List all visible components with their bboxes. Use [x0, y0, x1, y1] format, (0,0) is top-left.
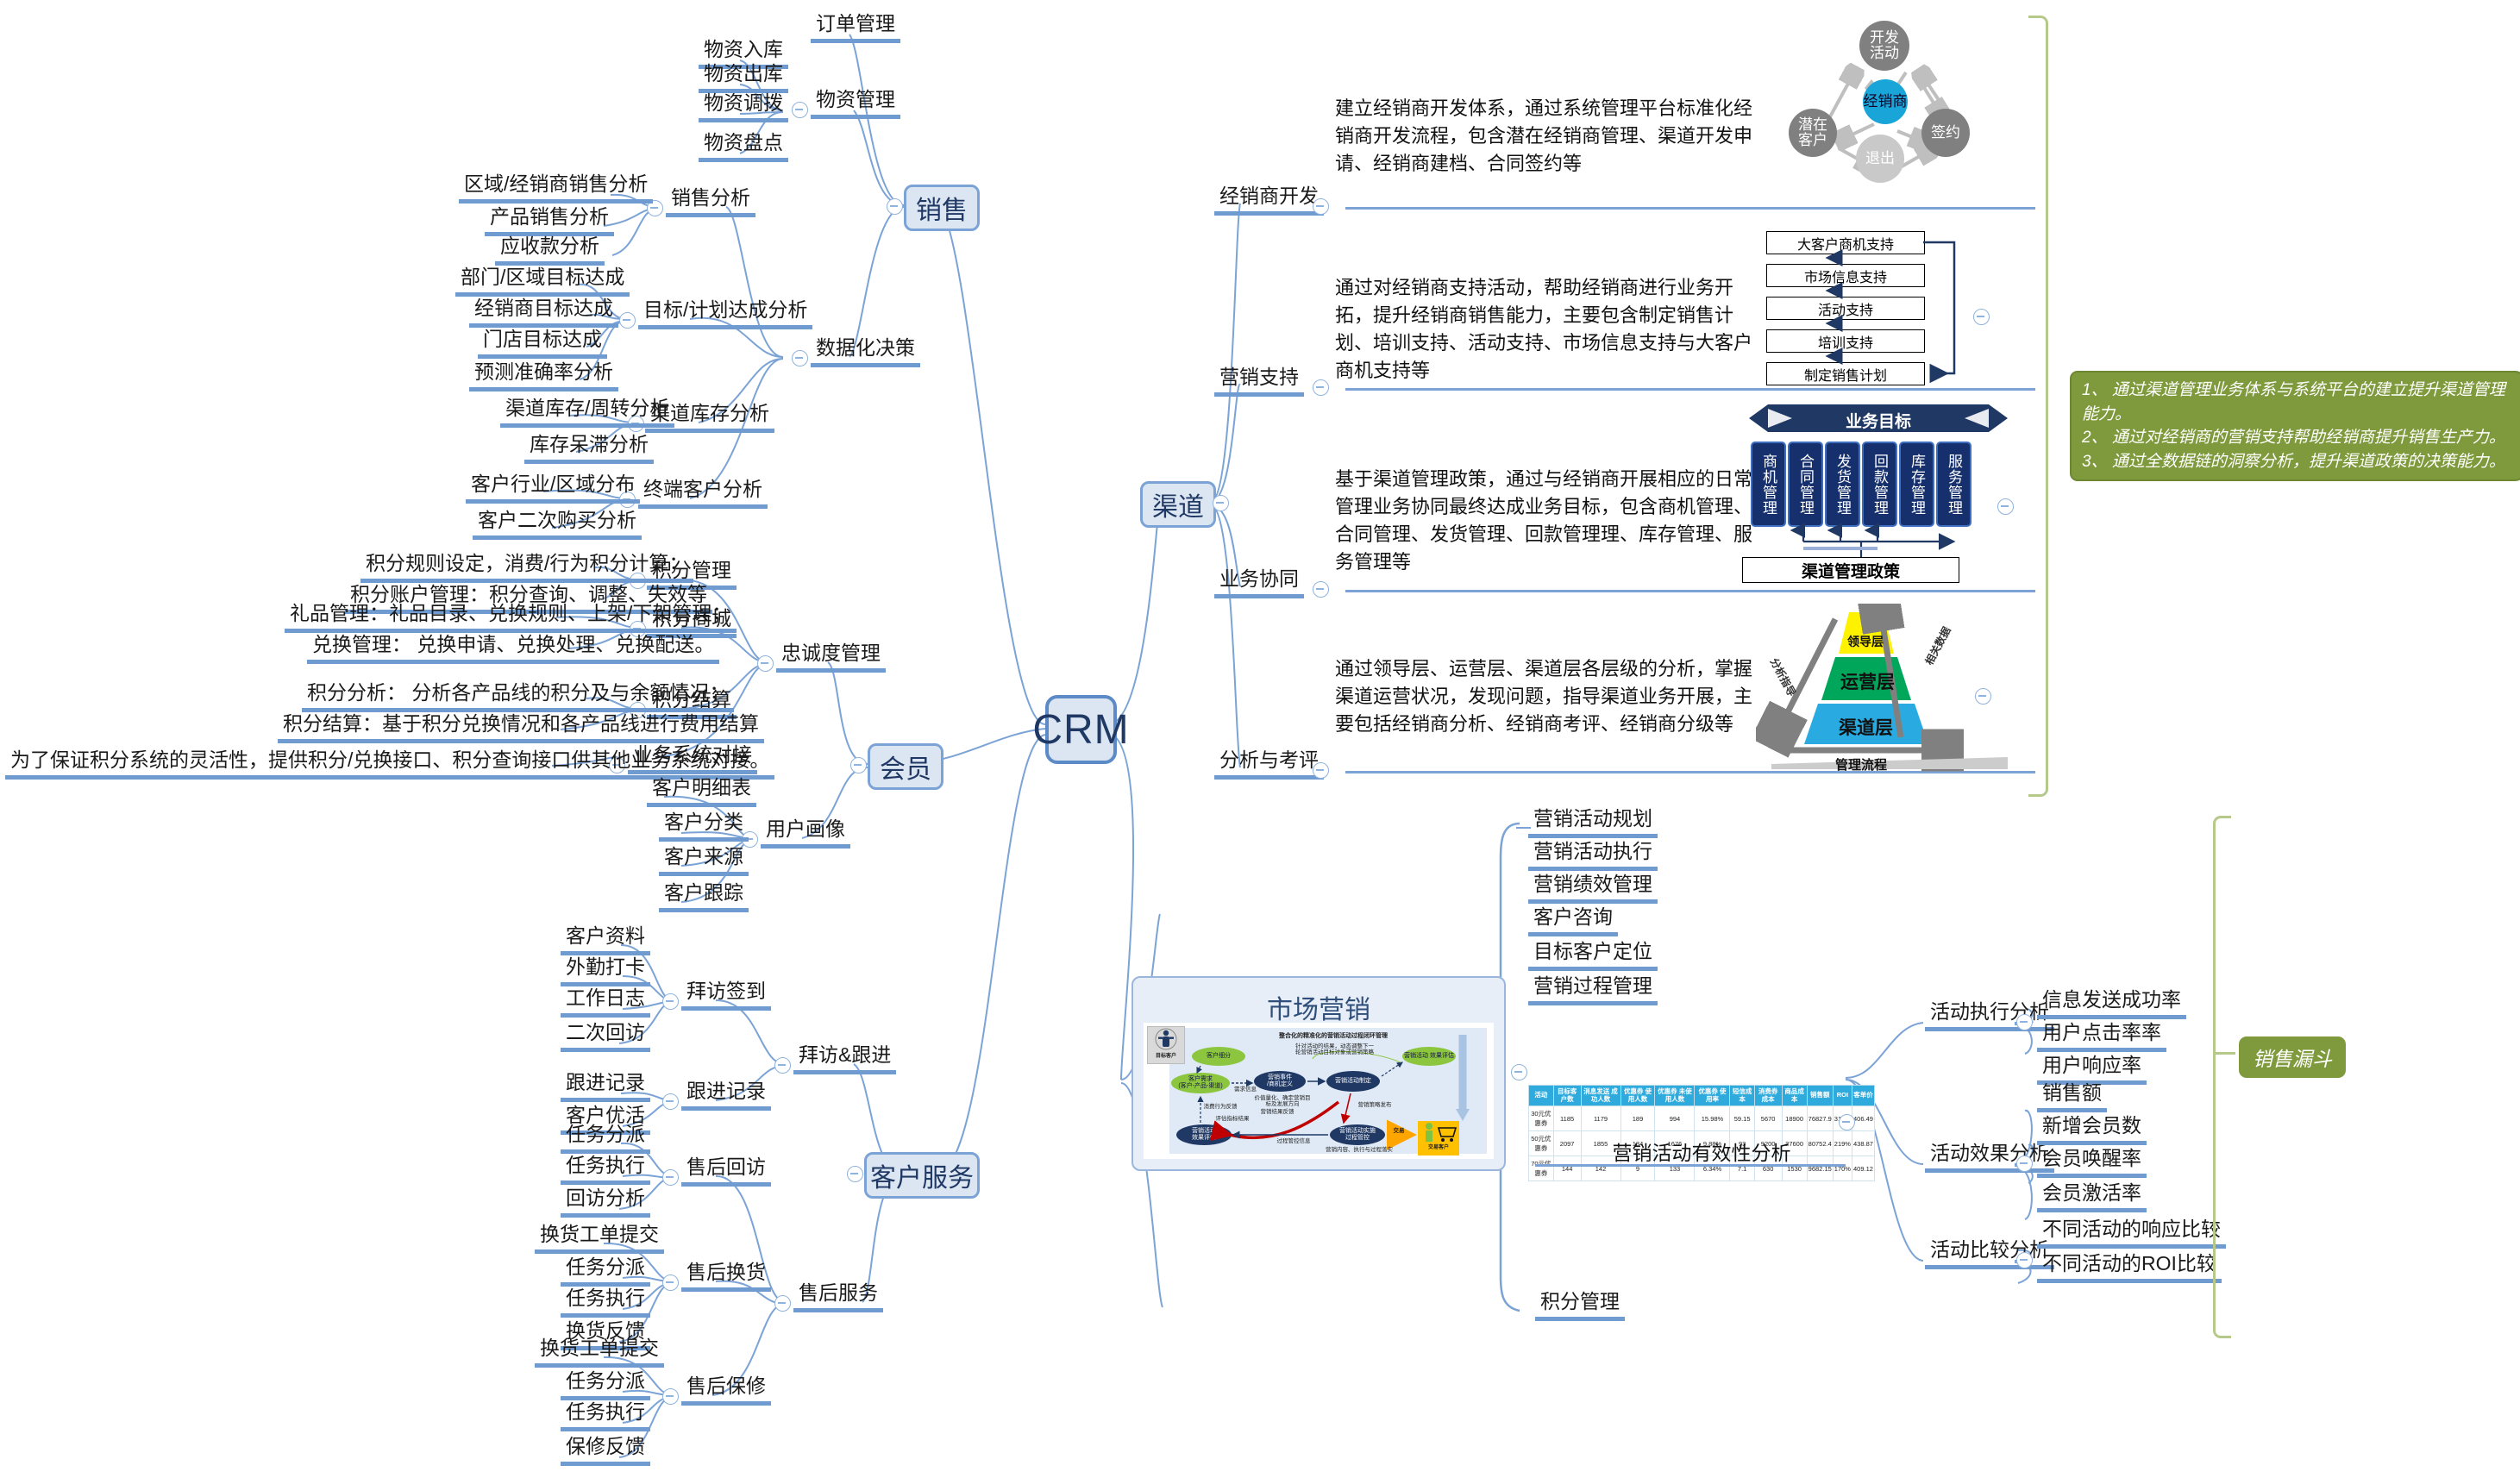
- circle-dealer-center-label: 经销商: [1864, 94, 1908, 110]
- flow-label-eval-metrics: 评估指标结果: [1207, 1116, 1257, 1122]
- leaf-customer-info[interactable]: 客户资料: [561, 924, 650, 955]
- node-aftersales-exchange[interactable]: 售后换货: [681, 1261, 771, 1292]
- circle-contract-label: 签约: [1931, 125, 1960, 141]
- leaf-material-count[interactable]: 物资盘点: [699, 131, 788, 162]
- leaf-campaign-plan[interactable]: 营销活动规划: [1528, 807, 1658, 838]
- toggle-activity-compare-analysis[interactable]: [2016, 1252, 2033, 1268]
- node-data-decision[interactable]: 数据化决策: [811, 336, 920, 367]
- funnel-brace-stub: [2213, 1052, 2235, 1055]
- leaf-revenue[interactable]: 销售额: [2037, 1081, 2107, 1112]
- marketing-card-inner: 目标客户 整合化的精准化的营销活动过程闭环管理 客户细分 客户需求 (客户-产品…: [1144, 1023, 1494, 1159]
- leaf-points-flexibility[interactable]: 为了保证积分系统的灵活性，提供积分/兑换接口、积分查询接口供其他业务系统对接。: [5, 748, 774, 780]
- flow-label-process-ctrl: 过程管控信息: [1266, 1138, 1321, 1144]
- leaf-member-wakeup-rate[interactable]: 会员唤醒率: [2037, 1147, 2147, 1178]
- toggle-material-mgmt[interactable]: [792, 102, 808, 118]
- toggle-target-plan[interactable]: [619, 312, 636, 329]
- th-goods-cost: 商品成本: [1782, 1086, 1807, 1106]
- toggle-business-collab[interactable]: [1313, 581, 1329, 598]
- text-analysis-evaluation: 通过领导层、运营层、渠道层各层级的分析，掌握渠道运营状况，发现问题，指导渠道业务…: [1335, 655, 1758, 738]
- pyramid-level-leadership: 领导层: [1847, 633, 1884, 650]
- illustration-dealer-cycle: 开发活动 经销商 潜在客户 签约 退出: [1777, 12, 2035, 202]
- toggle-aftersales-revisit[interactable]: [662, 1169, 679, 1186]
- leaf-task-assign-3[interactable]: 任务分派: [561, 1369, 650, 1400]
- channel-rule-3: [1345, 590, 2035, 592]
- toggle-data-decision[interactable]: [792, 350, 808, 366]
- leaf-exchange-ticket-2[interactable]: 换货工单提交: [535, 1337, 664, 1368]
- leaf-customer-consult[interactable]: 客户咨询: [1528, 905, 1618, 936]
- callout-line-1: 1、 通过渠道管理业务体系与系统平台的建立提升渠道管理能力。: [2082, 379, 2511, 426]
- leaf-response-compare[interactable]: 不同活动的响应比较: [2037, 1218, 2226, 1249]
- flow-label-dynamic-adjust: 针对活动的结果，动态调整下一轮营销活动目标对象或营销策略: [1295, 1043, 1375, 1056]
- pyramid-level-channel: 渠道层: [1839, 714, 1893, 740]
- leaf-roi-compare[interactable]: 不同活动的ROI比较: [2037, 1252, 2222, 1283]
- flow-label-behavior-feedback: 消费行为反馈: [1200, 1104, 1240, 1110]
- node-aftersales-revisit[interactable]: 售后回访: [681, 1155, 771, 1187]
- pillar-delivery: 发货管理: [1825, 442, 1860, 527]
- leaf-warranty-feedback[interactable]: 保修反馈: [561, 1435, 650, 1466]
- leaf-points-rule[interactable]: 积分规则设定，消费/行为积分计算；: [360, 552, 693, 583]
- th-used: 优惠券 使用人数: [1620, 1086, 1655, 1106]
- leaf-customer-source[interactable]: 客户来源: [659, 845, 749, 876]
- toggle-loyalty-mgmt[interactable]: [757, 655, 774, 672]
- marketing-card-title: 市场营销: [1133, 988, 1504, 1026]
- branch-label-service: 客户服务: [870, 1156, 974, 1194]
- leaf-dealer-target[interactable]: 经销商目标达成: [469, 297, 618, 328]
- branch-node-sales[interactable]: 销售: [904, 185, 980, 231]
- node-aftersales-warranty[interactable]: 售后保修: [681, 1375, 771, 1406]
- leaf-material-out[interactable]: 物资出库: [699, 62, 788, 93]
- node-activity-effect-analysis[interactable]: 活动效果分析: [1925, 1142, 2054, 1173]
- toggle-dealer-development[interactable]: [1313, 198, 1329, 215]
- pillar-inventory: 库存管理: [1899, 442, 1934, 527]
- leaf-customer-repeat[interactable]: 客户二次购买分析: [473, 509, 642, 540]
- toggle-marketing-card[interactable]: [1511, 1064, 1527, 1080]
- flow-label-strategy-publish: 营销策略发布: [1354, 1102, 1395, 1108]
- leaf-product-sales[interactable]: 产品销售分析: [485, 205, 614, 236]
- circle-exit-label: 退出: [1865, 151, 1895, 166]
- leaf-task-exec-3[interactable]: 任务执行: [561, 1400, 650, 1431]
- flow-label-value-quant: 价值量化、确定营销目标及发展方向: [1252, 1095, 1313, 1108]
- flow-label-demand-info: 需求信息: [1230, 1087, 1261, 1093]
- pillar-contract: 合同管理: [1788, 442, 1823, 527]
- node-sales-analysis[interactable]: 销售分析: [666, 186, 755, 217]
- node-analysis-evaluation[interactable]: 分析与考评: [1214, 748, 1324, 780]
- node-marketing-support[interactable]: 营销支持: [1214, 366, 1304, 397]
- marketing-card: 市场营销 目标客户 整合化的精准化的营销活动过程闭环管理 客户细分: [1131, 976, 1506, 1171]
- toggle-activity-exec-analysis[interactable]: [2016, 1014, 2033, 1030]
- node-dealer-development[interactable]: 经销商开发: [1214, 185, 1324, 216]
- node-activity-exec-analysis[interactable]: 活动执行分析: [1925, 1000, 2054, 1031]
- leaf-exchange-ticket-1[interactable]: 换货工单提交: [535, 1223, 664, 1254]
- toggle-pyramid[interactable]: [1975, 688, 1991, 705]
- leaf-task-assign-2[interactable]: 任务分派: [561, 1256, 650, 1287]
- text-business-collab: 基于渠道管理政策，通过与经销商开展相应的日常管理业务协同最终达成业务目标，包含商…: [1335, 466, 1758, 576]
- pyramid-level-operations: 运营层: [1840, 668, 1895, 694]
- root-label: CRM: [1032, 706, 1129, 754]
- illustration-pyramid: 领导层 运营层 渠道层 分析指导 相关数据 管理流程: [1756, 604, 2015, 776]
- branch-node-service[interactable]: 客户服务: [864, 1152, 980, 1199]
- leaf-store-target[interactable]: 门店目标达成: [478, 328, 607, 359]
- pillar-payment: 回款管理: [1862, 442, 1897, 527]
- leaf-followup-record[interactable]: 跟进记录: [561, 1071, 650, 1102]
- leaf-material-transfer[interactable]: 物资调拨: [699, 91, 788, 122]
- channel-callout-box: 1、 通过渠道管理业务体系与系统平台的建立提升渠道管理能力。 2、 通过对经销商…: [2070, 371, 2520, 481]
- policy-box: 渠道管理政策: [1742, 557, 1959, 583]
- th-aov: 客单价: [1852, 1086, 1874, 1106]
- toggle-aftersales-warranty[interactable]: [662, 1388, 679, 1405]
- branch-label-member: 会员: [880, 748, 931, 786]
- leaf-points-mgmt-marketing[interactable]: 积分管理: [1535, 1290, 1625, 1321]
- marketing-rule-1: [1535, 1164, 1846, 1167]
- leaf-field-checkin[interactable]: 外勤打卡: [561, 955, 650, 986]
- toggle-followup-record[interactable]: [662, 1093, 679, 1110]
- toggle-visit-checkin[interactable]: [662, 993, 679, 1010]
- leaf-task-assign-1[interactable]: 任务分派: [561, 1123, 650, 1154]
- toggle-aftersales-service[interactable]: [774, 1295, 791, 1312]
- node-activity-compare-analysis[interactable]: 活动比较分析: [1925, 1238, 2054, 1269]
- leaf-task-exec-1[interactable]: 任务执行: [561, 1154, 650, 1185]
- leaf-new-members[interactable]: 新增会员数: [2037, 1114, 2147, 1145]
- pillar-service: 服务管理: [1936, 442, 1971, 527]
- leaf-forecast-accuracy[interactable]: 预测准确率分析: [469, 360, 618, 391]
- leaf-work-log[interactable]: 工作日志: [561, 986, 650, 1018]
- table-row: 30元优惠券 1185 1179 189 994 15.98% 59.15 56…: [1529, 1106, 1875, 1131]
- callout-line-2: 2、 通过对经销商的营销支持帮助经销商提升销售生产力。: [2082, 426, 2511, 450]
- circle-dealer-center: 经销商: [1863, 79, 1908, 124]
- th-coupon-cost: 消费券成本: [1754, 1086, 1782, 1106]
- leaf-dept-region-target[interactable]: 部门/区域目标达成: [455, 266, 630, 297]
- th-unused: 优惠券 未使用人数: [1655, 1086, 1695, 1106]
- toggle-member[interactable]: [850, 757, 867, 773]
- circle-contract: 签约: [1921, 109, 1970, 157]
- support-stack-arrows: [1766, 231, 2051, 395]
- leaf-revisit-analysis[interactable]: 回访分析: [561, 1187, 650, 1218]
- root-node-crm[interactable]: CRM: [1045, 695, 1117, 764]
- leaf-receivable[interactable]: 应收款分析: [495, 235, 605, 266]
- th-revenue: 销售额: [1807, 1086, 1833, 1106]
- leaf-stock-stagnant[interactable]: 库存呆滞分析: [524, 433, 654, 464]
- toggle-visit-followup[interactable]: [774, 1057, 791, 1074]
- toggle-aftersales-exchange[interactable]: [662, 1274, 679, 1291]
- leaf-member-activation-rate[interactable]: 会员激活率: [2037, 1181, 2147, 1212]
- leaf-points-settle[interactable]: 积分结算：基于积分兑换情况和各产品线进行费用结算: [278, 712, 764, 743]
- toggle-activity-effect-analysis[interactable]: [2016, 1155, 2033, 1172]
- callout-line-3: 3、 通过全数据链的洞察分析，提升渠道政策的决策能力。: [2082, 450, 2511, 474]
- pyramid-bottom-arrow-label: 管理流程: [1835, 755, 1887, 773]
- leaf-customer-industry[interactable]: 客户行业/区域分布: [466, 473, 640, 504]
- toggle-channel[interactable]: [1213, 495, 1229, 511]
- node-user-profile[interactable]: 用户画像: [761, 817, 850, 849]
- leaf-second-visit[interactable]: 二次回访: [561, 1021, 650, 1052]
- toggle-sales[interactable]: [887, 198, 903, 215]
- node-material-mgmt[interactable]: 物资管理: [811, 88, 900, 119]
- node-followup-record[interactable]: 跟进记录: [681, 1080, 771, 1111]
- leaf-customer-class[interactable]: 客户分类: [659, 811, 749, 842]
- node-aftersales-service[interactable]: 售后服务: [793, 1281, 883, 1312]
- channel-rule-1: [1345, 207, 2035, 210]
- branch-node-member[interactable]: 会员: [868, 743, 943, 790]
- circle-potential-customer: 潜在客户: [1789, 109, 1837, 157]
- leaf-msg-success-rate[interactable]: 信息发送成功率: [2037, 988, 2186, 1019]
- leaf-campaign-exec[interactable]: 营销活动执行: [1528, 840, 1658, 871]
- text-marketing-support: 通过对经销商支持活动，帮助经销商进行业务开拓，提升经销商销售能力，主要包含制定销…: [1335, 274, 1758, 385]
- leaf-target-customer-pos[interactable]: 目标客户定位: [1528, 940, 1658, 971]
- toggle-service[interactable]: [847, 1166, 863, 1182]
- th-activity: 活动: [1529, 1086, 1554, 1106]
- table-header-row: 活动 目标客户数 消息发送 成功人数 优惠券 使用人数 优惠券 未使用人数 优惠…: [1529, 1086, 1875, 1106]
- leaf-region-dealer-sales[interactable]: 区域/经销商销售分析: [459, 172, 653, 204]
- toggle-support-stack[interactable]: [1973, 309, 1990, 325]
- funnel-brace: [2213, 816, 2231, 1338]
- channel-callout-brace: [2028, 16, 2048, 797]
- illustration-support-stack: 大客户商机支持 市场信息支持 活动支持 培训支持 制定销售计划: [1766, 231, 2051, 395]
- toggle-marketing-support[interactable]: [1313, 379, 1329, 396]
- flow-label-result-feedback: 营销结果反馈: [1259, 1109, 1295, 1115]
- node-target-plan-analysis[interactable]: 目标/计划达成分析: [638, 298, 812, 329]
- node-order-mgmt[interactable]: 订单管理: [811, 12, 900, 43]
- toggle-effectiveness-table[interactable]: [1839, 1114, 1855, 1130]
- goal-hex-label: 业务目标: [1749, 409, 2008, 432]
- node-business-collab[interactable]: 业务协同: [1214, 567, 1304, 598]
- branch-label-sales: 销售: [916, 189, 968, 227]
- branch-node-channel[interactable]: 渠道: [1140, 481, 1216, 528]
- leaf-customer-track[interactable]: 客户跟踪: [659, 881, 749, 912]
- circle-dev-activity-label: 开发活动: [1870, 30, 1899, 61]
- effectiveness-table: 活动 目标客户数 消息发送 成功人数 优惠券 使用人数 优惠券 未使用人数 优惠…: [1528, 1085, 1875, 1181]
- leaf-click-rate[interactable]: 用户点击率率: [2037, 1021, 2166, 1052]
- node-loyalty-mgmt[interactable]: 忠诚度管理: [776, 642, 886, 673]
- leaf-campaign-process[interactable]: 营销过程管理: [1528, 974, 1658, 1005]
- th-sent: 消息发送 成功人数: [1581, 1086, 1620, 1106]
- node-terminal-customer-analysis[interactable]: 终端客户分析: [638, 478, 768, 509]
- th-sms-cost: 短信成本: [1730, 1086, 1754, 1106]
- th-target: 目标客户数: [1553, 1086, 1581, 1106]
- leaf-campaign-perf[interactable]: 营销绩效管理: [1528, 873, 1658, 904]
- circle-exit: 退出: [1856, 135, 1904, 183]
- th-rate: 优惠券 使用率: [1695, 1086, 1730, 1106]
- leaf-points-analysis[interactable]: 积分分析： 分析各产品线的积分及与余额情况；: [302, 681, 734, 712]
- pillar-opportunity: 商机管理: [1751, 442, 1786, 527]
- leaf-exchange-mgmt[interactable]: 兑换管理： 兑换申请、兑换处理、兑换配送。: [307, 633, 719, 664]
- branch-label-channel: 渠道: [1152, 485, 1204, 523]
- node-visit-followup[interactable]: 拜访&跟进: [793, 1043, 896, 1074]
- leaf-customer-detail[interactable]: 客户明细表: [647, 776, 756, 807]
- th-roi: ROI: [1833, 1086, 1852, 1106]
- toggle-business-goal[interactable]: [1997, 498, 2014, 515]
- node-visit-checkin[interactable]: 拜访签到: [681, 980, 771, 1011]
- leaf-stock-turnover[interactable]: 渠道库存/周转分析: [500, 397, 674, 428]
- text-dealer-development: 建立经销商开发体系，通过系统管理平台标准化经销商开发流程，包含潜在经销商管理、渠…: [1335, 95, 1758, 178]
- leaf-task-exec-2[interactable]: 任务执行: [561, 1287, 650, 1318]
- leaf-gift-mgmt[interactable]: 礼品管理：礼品目录、兑换规则、上架/下架管理；: [285, 602, 737, 633]
- circle-potential-customer-label: 潜在客户: [1798, 117, 1827, 148]
- flow-label-transaction: 交易: [1385, 1128, 1413, 1134]
- illustration-business-goal: 业务目标 商机管理 合同管理 发货管理 回款管理 库存管理 服务管理: [1733, 404, 2027, 585]
- toggle-analysis-evaluation[interactable]: [1313, 762, 1329, 779]
- leaf-response-rate[interactable]: 用户响应率: [2037, 1054, 2147, 1085]
- flow-label-content-exec: 营销内容、执行与过程落实: [1323, 1147, 1395, 1153]
- circle-dev-activity: 开发活动: [1859, 21, 1909, 71]
- table-caption: 营销活动有效性分析: [1528, 1137, 1875, 1166]
- sales-funnel-pill: 销售漏斗: [2239, 1036, 2346, 1078]
